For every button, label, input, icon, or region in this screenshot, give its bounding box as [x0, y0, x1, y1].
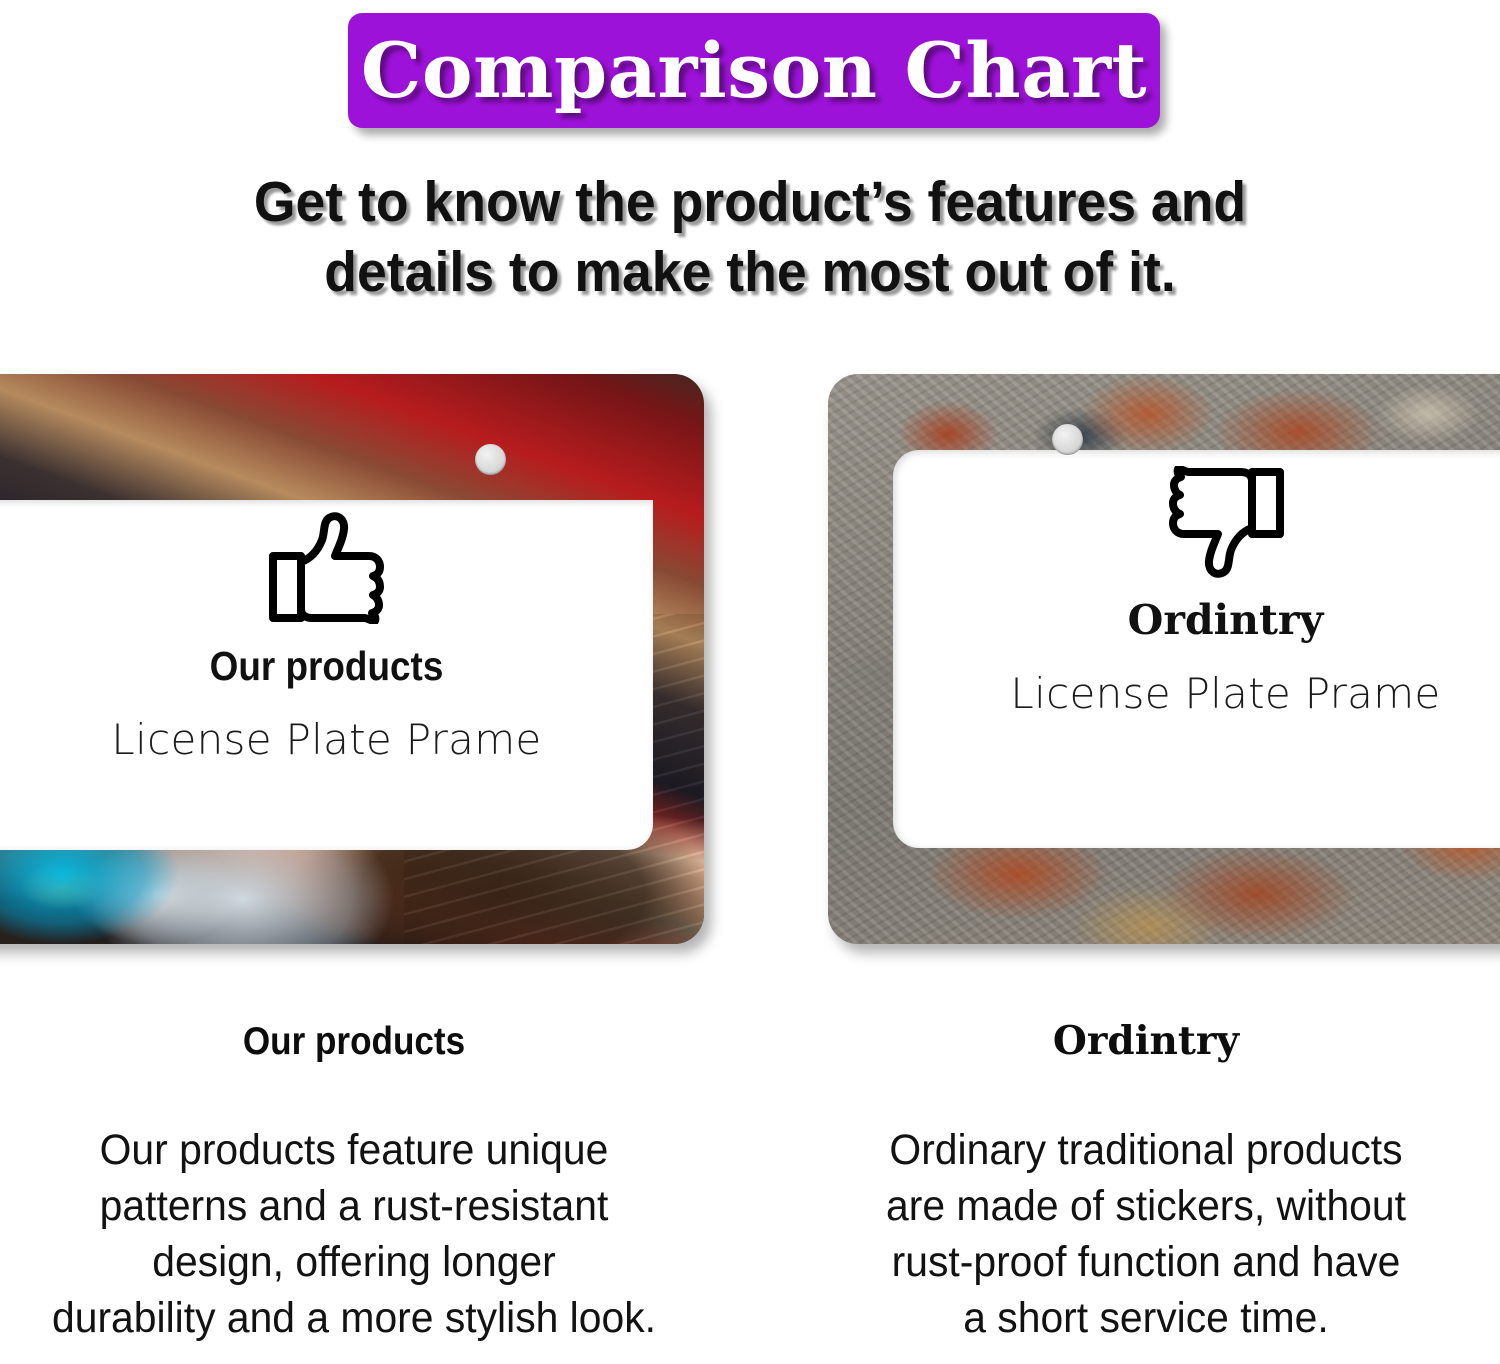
our-product-name: License Plate Prame [0, 719, 653, 761]
description-line-3: design, offering longer [18, 1235, 691, 1291]
subtitle-line-1: Get to know the product’s features and [45, 168, 1455, 238]
our-product-brand: Our products [33, 646, 621, 687]
ordinary-product-description: Ordinary traditional products are made o… [810, 1123, 1483, 1347]
comparison-chart-page: Comparison Chart Get to know the product… [0, 0, 1500, 1364]
our-product-heading: Our products [35, 1022, 672, 1061]
our-product-description: Our products feature unique patterns and… [18, 1123, 691, 1347]
mounting-hole-icon [1052, 424, 1083, 455]
page-title: Comparison Chart [361, 33, 1147, 109]
title-banner: Comparison Chart [348, 13, 1160, 128]
ordinary-product-name: License Plate Prame [893, 673, 1500, 715]
thumbs-up-icon [268, 512, 386, 624]
our-product-plate-frame: Our products License Plate Prame [0, 374, 704, 944]
descriptions-row: Our products Our products feature unique… [0, 1022, 1500, 1364]
description-line-4: durability and a more stylish look. [18, 1291, 691, 1347]
ordinary-product-description-column: Ordintry Ordinary traditional products a… [792, 1022, 1500, 1347]
our-product-window-content: Our products License Plate Prame [0, 512, 653, 761]
ordinary-product-window-content: Ordintry License Plate Prame [893, 466, 1500, 715]
description-line-4: a short service time. [810, 1291, 1483, 1347]
plate-frames-row: Our products License Plate Prame Ordintr… [0, 352, 1500, 972]
mounting-hole-icon [475, 444, 506, 475]
description-line-1: Our products feature unique [18, 1123, 691, 1179]
subtitle: Get to know the product’s features and d… [45, 168, 1455, 307]
description-line-3: rust-proof function and have [810, 1235, 1483, 1291]
thumbs-down-icon [1167, 466, 1285, 578]
our-product-description-column: Our products Our products feature unique… [0, 1022, 708, 1347]
subtitle-line-2: details to make the most out of it. [45, 238, 1455, 308]
ordinary-product-heading: Ordintry [792, 1022, 1500, 1061]
description-line-1: Ordinary traditional products [810, 1123, 1483, 1179]
description-line-2: patterns and a rust-resistant [18, 1179, 691, 1235]
ordinary-product-brand: Ordintry [893, 600, 1500, 641]
ordinary-product-plate-frame: Ordintry License Plate Prame [828, 374, 1500, 944]
description-line-2: are made of stickers, without [810, 1179, 1483, 1235]
